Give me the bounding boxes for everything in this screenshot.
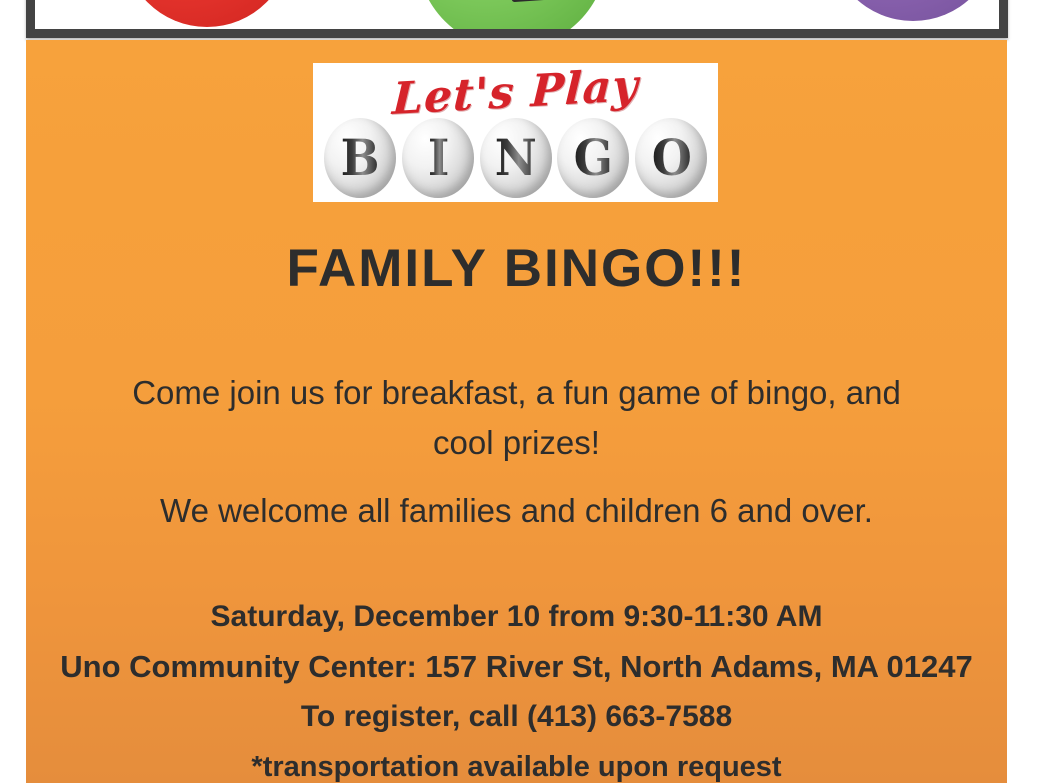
logo-ball-b: B <box>324 118 396 198</box>
logo-ball-letter: I <box>427 133 448 183</box>
red-bingo-ball-icon <box>123 0 291 27</box>
banner-photo-inner <box>35 0 999 29</box>
transportation-note: *transportation available upon request <box>46 742 987 783</box>
logo-ball-o: O <box>635 118 707 198</box>
logo-ball-n: N <box>480 118 552 198</box>
logo-ball-letter: G <box>574 133 612 183</box>
green-bingo-ball-icon <box>417 0 607 38</box>
purple-bingo-ball-icon <box>829 0 997 21</box>
event-location: Uno Community Center: 157 River St, Nort… <box>46 642 987 692</box>
logo-ball-row: B I N G O <box>324 118 707 198</box>
logo-ball-letter: B <box>341 133 379 183</box>
logo-ball-letter: O <box>651 133 690 183</box>
event-details-block: Saturday, December 10 from 9:30-11:30 AM… <box>46 592 987 783</box>
bingo-flyer: Let's Play B I N G O FAMILY BIN <box>0 0 1044 783</box>
logo-ball-g: G <box>557 118 629 198</box>
event-date-time: Saturday, December 10 from 9:30-11:30 AM <box>46 592 987 642</box>
poster-body: Let's Play B I N G O FAMILY BIN <box>26 40 1007 783</box>
body-line-3: We welcome all families and children 6 a… <box>66 486 967 536</box>
lets-play-bingo-logo: Let's Play B I N G O <box>313 63 718 202</box>
page-title: FAMILY BINGO!!! <box>26 238 1007 299</box>
bingo-balls-photo-banner <box>26 0 1008 38</box>
registration-phone: To register, call (413) 663-7588 <box>46 692 987 742</box>
body-line-2: cool prizes! <box>66 418 967 468</box>
body-text-block: Come join us for breakfast, a fun game o… <box>66 368 967 536</box>
logo-ball-i: I <box>402 118 474 198</box>
logo-ball-letter: N <box>495 133 536 183</box>
body-line-1: Come join us for breakfast, a fun game o… <box>66 368 967 418</box>
